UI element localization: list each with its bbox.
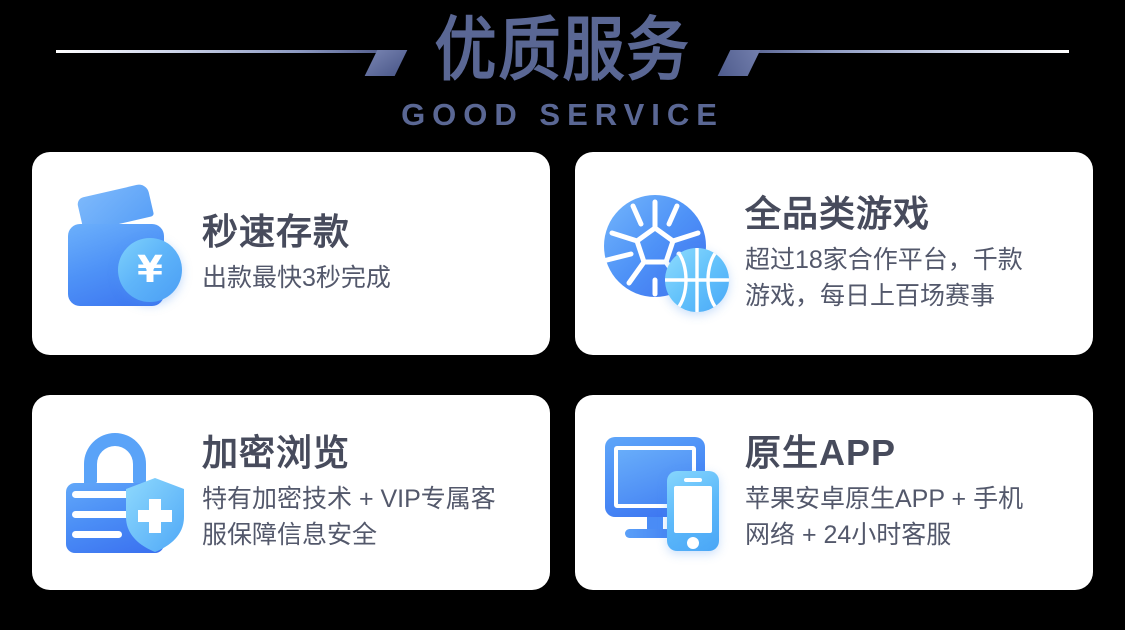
header-title-row: 优质服务 (0, 12, 1125, 90)
card-subtitle-line: 服保障信息安全 (202, 517, 532, 553)
lock-slot-icon (72, 491, 130, 498)
devices-icon (603, 427, 735, 559)
feature-card-games[interactable]: 全品类游戏 超过18家合作平台，千款 游戏，每日上百场赛事 (575, 152, 1093, 355)
card-subtitle: 出款最快3秒完成 (202, 260, 532, 296)
card-title: 秒速存款 (202, 211, 532, 253)
phone-home-button-icon (687, 537, 699, 549)
balls-shape (603, 194, 731, 316)
ball-games-icon (603, 188, 735, 320)
card-subtitle-line: 出款最快3秒完成 (202, 260, 532, 296)
left-slant-block-icon (365, 50, 408, 76)
card-subtitle-line: 网络 + 24小时客服 (745, 517, 1075, 553)
right-rule-line (747, 50, 1069, 53)
left-rule-line (56, 50, 378, 53)
card-subtitle: 超过18家合作平台，千款 游戏，每日上百场赛事 (745, 242, 1075, 314)
card-title: 全品类游戏 (745, 193, 1075, 235)
card-subtitle: 特有加密技术 + VIP专属客 服保障信息安全 (202, 481, 532, 553)
smartphone-icon (667, 471, 719, 551)
card-subtitle-line: 超过18家合作平台，千款 (745, 242, 1075, 278)
card-title: 原生APP (745, 432, 1075, 474)
feature-card-native-app[interactable]: 原生APP 苹果安卓原生APP + 手机 网络 + 24小时客服 (575, 395, 1093, 590)
card-subtitle: 苹果安卓原生APP + 手机 网络 + 24小时客服 (745, 481, 1075, 553)
feature-card-grid: ¥ 秒速存款 出款最快3秒完成 (32, 152, 1093, 590)
right-slant-block-icon (717, 50, 760, 76)
yen-coin-icon: ¥ (118, 238, 182, 302)
lock-slot-icon (72, 531, 122, 538)
yen-symbol: ¥ (137, 251, 163, 288)
feature-card-deposit[interactable]: ¥ 秒速存款 出款最快3秒完成 (32, 152, 550, 355)
devices-shape (605, 435, 729, 551)
phone-speaker-icon (684, 478, 702, 482)
basketball-icon (665, 248, 729, 312)
card-text-block: 加密浏览 特有加密技术 + VIP专属客 服保障信息安全 (198, 432, 532, 553)
wallet-icon: ¥ (60, 188, 192, 320)
feature-card-encryption[interactable]: 加密浏览 特有加密技术 + VIP专属客 服保障信息安全 (32, 395, 550, 590)
page-header: 优质服务 GOOD SERVICE (0, 0, 1125, 148)
lock-shape (66, 433, 184, 553)
phone-screen-icon (674, 486, 712, 533)
shield-badge-icon (124, 477, 186, 553)
right-decoration (707, 21, 1099, 81)
card-subtitle-line: 特有加密技术 + VIP专属客 (202, 481, 532, 517)
card-title: 加密浏览 (202, 432, 532, 474)
card-text-block: 全品类游戏 超过18家合作平台，千款 游戏，每日上百场赛事 (741, 193, 1075, 314)
lock-shield-icon (60, 427, 192, 559)
promo-banner: 优质服务 GOOD SERVICE ¥ 秒速存款 (0, 0, 1125, 630)
card-subtitle-line: 游戏，每日上百场赛事 (745, 278, 1075, 314)
left-decoration (26, 21, 418, 81)
card-subtitle-line: 苹果安卓原生APP + 手机 (745, 481, 1075, 517)
card-text-block: 秒速存款 出款最快3秒完成 (198, 211, 532, 296)
card-text-block: 原生APP 苹果安卓原生APP + 手机 网络 + 24小时客服 (741, 432, 1075, 553)
page-title: 优质服务 (418, 16, 706, 85)
page-subtitle: GOOD SERVICE (0, 98, 1125, 132)
